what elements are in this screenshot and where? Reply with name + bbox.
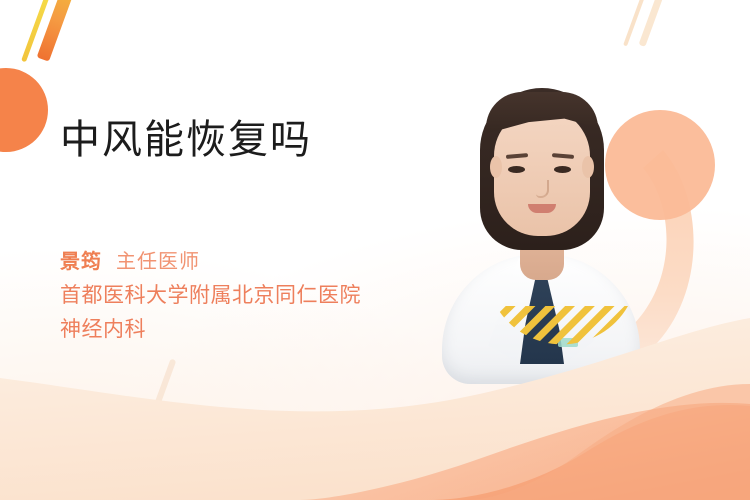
doctor-rank: 主任医师: [116, 248, 200, 277]
page-title: 中风能恢复吗: [60, 116, 312, 164]
doctor-credit-block: 景筠 主任医师 首都医科大学附属北京同仁医院 神经内科: [60, 248, 361, 346]
doctor-name-row: 景筠 主任医师: [60, 248, 361, 277]
doctor-video-thumbnail-card: 中风能恢复吗 景筠 主任医师 首都医科大学附属北京同仁医院 神经内科: [0, 0, 750, 500]
yellow-striped-semicircle-icon: [496, 306, 628, 344]
doctor-name: 景筠: [60, 248, 102, 277]
doctor-department: 神经内科: [60, 315, 361, 345]
doctor-hospital: 首都医科大学附属北京同仁医院: [60, 281, 361, 311]
